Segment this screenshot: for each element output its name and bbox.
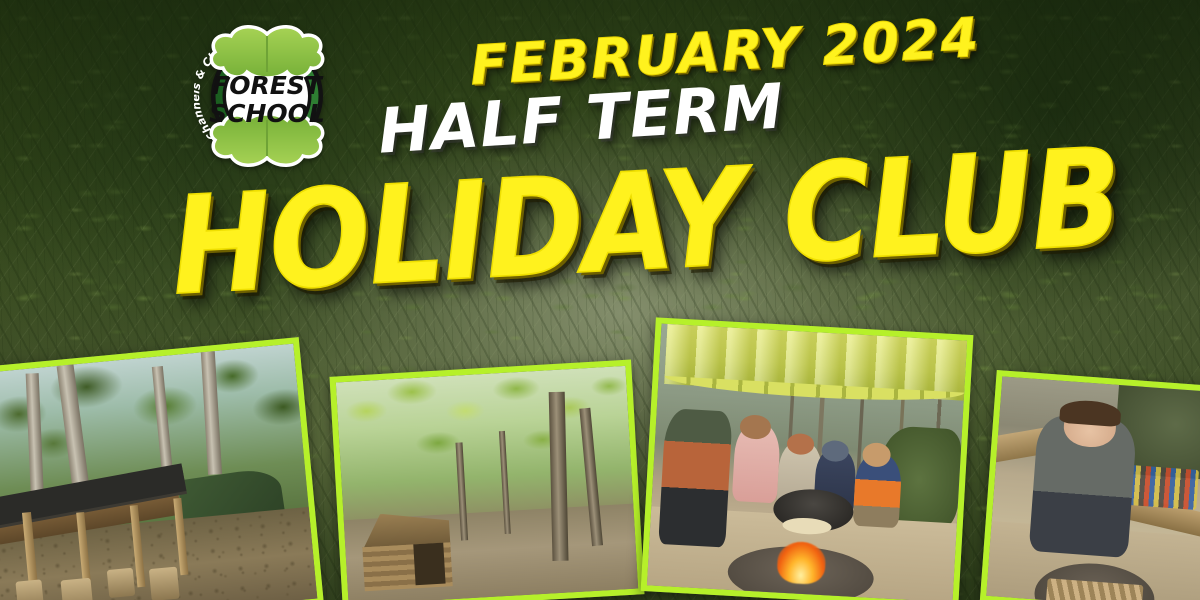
main-title: HOLIDAY CLUB xyxy=(168,118,1124,325)
photo-children-campfire xyxy=(641,317,974,600)
photo-woodland-path xyxy=(329,360,644,600)
holiday-club-banner: Channels & Choices FOREST SCHOOL FEBRUAR… xyxy=(0,0,1200,600)
photo-child-firepit xyxy=(980,370,1200,600)
photo-woodland-shelter xyxy=(0,337,324,600)
